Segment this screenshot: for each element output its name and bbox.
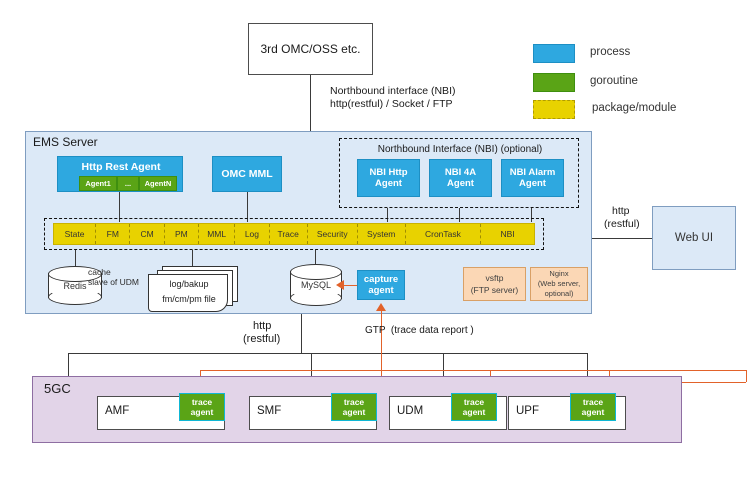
nbi-link-label-line1: Northbound interface (NBI) bbox=[330, 85, 455, 98]
file-stack-line2: fm/cm/pm file bbox=[152, 292, 226, 307]
capture-agent-line2: agent bbox=[368, 285, 393, 296]
log-backup-file-stack[interactable]: log/bakup fm/cm/pm file bbox=[148, 266, 236, 310]
file-stack-text: log/bakup fm/cm/pm file bbox=[152, 277, 226, 307]
web-ui-label: Web UI bbox=[675, 232, 713, 244]
mysql-cylinder-top bbox=[290, 264, 342, 280]
nginx-line1: Nginx bbox=[549, 269, 568, 279]
nbi-http-agent-box[interactable]: NBI Http Agent bbox=[357, 159, 420, 197]
redis-cylinder-bottom bbox=[48, 289, 102, 305]
nbi-4a-agent-line2: Agent bbox=[447, 178, 474, 189]
nginx-box[interactable]: Nginx (Web server, optional) bbox=[530, 267, 588, 301]
http-restful-label-line1: http bbox=[253, 320, 271, 333]
mysql-database[interactable]: MySQL bbox=[290, 264, 342, 306]
ems-to-webui-line bbox=[592, 238, 652, 239]
module-log[interactable]: Log bbox=[235, 224, 269, 244]
redis-note-line1: cache bbox=[88, 267, 111, 277]
omc-oss-to-ems-line bbox=[310, 75, 311, 132]
trace-agent-smf[interactable]: trace agent bbox=[331, 393, 377, 421]
capture-agent-line1: capture bbox=[364, 274, 398, 285]
module-system[interactable]: System bbox=[358, 224, 406, 244]
vsftp-line1: vsftp bbox=[486, 272, 504, 284]
nbi-alarm-agent-line1: NBI Alarm bbox=[510, 167, 556, 178]
module-security[interactable]: Security bbox=[308, 224, 358, 244]
nbi-alarm-agent-line2: Agent bbox=[519, 178, 546, 189]
trace-agent-amf[interactable]: trace agent bbox=[179, 393, 225, 421]
module-state[interactable]: State bbox=[54, 224, 96, 244]
module-fm[interactable]: FM bbox=[96, 224, 130, 244]
http-restful-label-line2: (restful) bbox=[243, 333, 280, 346]
trace-agent-smf-line1: trace bbox=[344, 397, 364, 407]
legend-swatch-package bbox=[533, 100, 575, 119]
webui-link-line2: (restful) bbox=[604, 218, 640, 231]
trace-agent-udm[interactable]: trace agent bbox=[451, 393, 497, 421]
agent-1[interactable]: Agent1 bbox=[79, 176, 117, 191]
modules-to-redis-line bbox=[75, 250, 76, 266]
legend: process goroutine package/module bbox=[533, 42, 748, 120]
agent-n[interactable]: AgentN bbox=[139, 176, 177, 191]
webui-link-line1: http bbox=[612, 205, 630, 218]
vsftp-box[interactable]: vsftp (FTP server) bbox=[463, 267, 526, 301]
nbi-group-title: Northbound Interface (NBI) (optional) bbox=[340, 142, 580, 156]
trace-agent-amf-line2: agent bbox=[191, 407, 214, 417]
module-trace[interactable]: Trace bbox=[270, 224, 308, 244]
nbi-http-agent-line1: NBI Http bbox=[370, 167, 408, 178]
legend-label-process: process bbox=[590, 46, 630, 58]
nf-amf-label: AMF bbox=[105, 405, 129, 417]
gtp-branch-smf bbox=[746, 370, 747, 382]
redis-note-line2: slave of UDM bbox=[88, 277, 139, 287]
third-party-omc-oss-label: 3rd OMC/OSS etc. bbox=[260, 42, 360, 56]
file-stack-line1: log/bakup bbox=[152, 277, 226, 292]
nginx-line2: (Web server, bbox=[538, 279, 580, 289]
nbi-link-label-line2: http(restful) / Socket / FTP bbox=[330, 98, 453, 111]
trace-agent-udm-line1: trace bbox=[464, 397, 484, 407]
nbi-4a-agent-box[interactable]: NBI 4A Agent bbox=[429, 159, 492, 197]
omc-mml-label: OMC MML bbox=[221, 168, 272, 180]
web-ui-box[interactable]: Web UI bbox=[652, 206, 736, 270]
legend-swatch-process bbox=[533, 44, 575, 63]
module-nbi[interactable]: NBI bbox=[481, 224, 534, 244]
modules-to-mysql-line bbox=[315, 250, 316, 264]
legend-label-goroutine: goroutine bbox=[590, 75, 638, 87]
module-cm[interactable]: CM bbox=[130, 224, 164, 244]
mysql-label: MySQL bbox=[290, 280, 342, 290]
trace-agent-upf-line2: agent bbox=[582, 407, 605, 417]
vsftp-line2: (FTP server) bbox=[471, 284, 519, 296]
ems-server-title: EMS Server bbox=[33, 136, 98, 149]
trace-agent-upf[interactable]: trace agent bbox=[570, 393, 616, 421]
capture-to-mysql-line bbox=[343, 285, 357, 286]
third-party-omc-oss-box[interactable]: 3rd OMC/OSS etc. bbox=[248, 23, 373, 75]
module-pm[interactable]: PM bbox=[165, 224, 199, 244]
trace-agent-smf-line2: agent bbox=[343, 407, 366, 417]
mysql-cylinder-bottom bbox=[290, 290, 342, 306]
capture-agent-box[interactable]: capture agent bbox=[357, 270, 405, 300]
modules-bar: State FM CM PM MML Log Trace Security Sy… bbox=[53, 223, 535, 245]
gtp-bus bbox=[200, 370, 746, 371]
legend-label-package: package/module bbox=[592, 102, 676, 114]
nbi-group: Northbound Interface (NBI) (optional) NB… bbox=[339, 138, 579, 208]
trace-agent-upf-line1: trace bbox=[583, 397, 603, 407]
agent-ellipsis: ... bbox=[117, 176, 139, 191]
nf-upf-label: UPF bbox=[516, 405, 539, 417]
nbi-http-agent-line2: Agent bbox=[375, 178, 402, 189]
nginx-line3: optional) bbox=[545, 289, 574, 299]
nf-smf-label: SMF bbox=[257, 405, 281, 417]
capture-to-mysql-arrow bbox=[336, 280, 344, 290]
module-crontask[interactable]: CronTask bbox=[406, 224, 481, 244]
http-rest-agent-children: Agent1 ... AgentN bbox=[79, 176, 177, 191]
nf-udm-label: UDM bbox=[397, 405, 423, 417]
http-rest-agent-box[interactable]: Http Rest Agent Agent1 ... AgentN bbox=[57, 156, 183, 192]
http-restful-bus bbox=[68, 353, 587, 354]
legend-swatch-goroutine bbox=[533, 73, 575, 92]
modules-to-files-line bbox=[192, 250, 193, 266]
gtp-label: GTP (trace data report ) bbox=[365, 324, 474, 337]
nbi-4a-agent-line1: NBI 4A bbox=[445, 167, 476, 178]
http-restful-trunk bbox=[301, 314, 302, 354]
trace-agent-udm-line2: agent bbox=[463, 407, 486, 417]
module-mml[interactable]: MML bbox=[199, 224, 235, 244]
nbi-alarm-agent-box[interactable]: NBI Alarm Agent bbox=[501, 159, 564, 197]
omc-mml-box[interactable]: OMC MML bbox=[212, 156, 282, 192]
http-rest-agent-title: Http Rest Agent bbox=[58, 159, 184, 174]
core-5gc-title: 5GC bbox=[44, 382, 71, 395]
trace-agent-amf-line1: trace bbox=[192, 397, 212, 407]
